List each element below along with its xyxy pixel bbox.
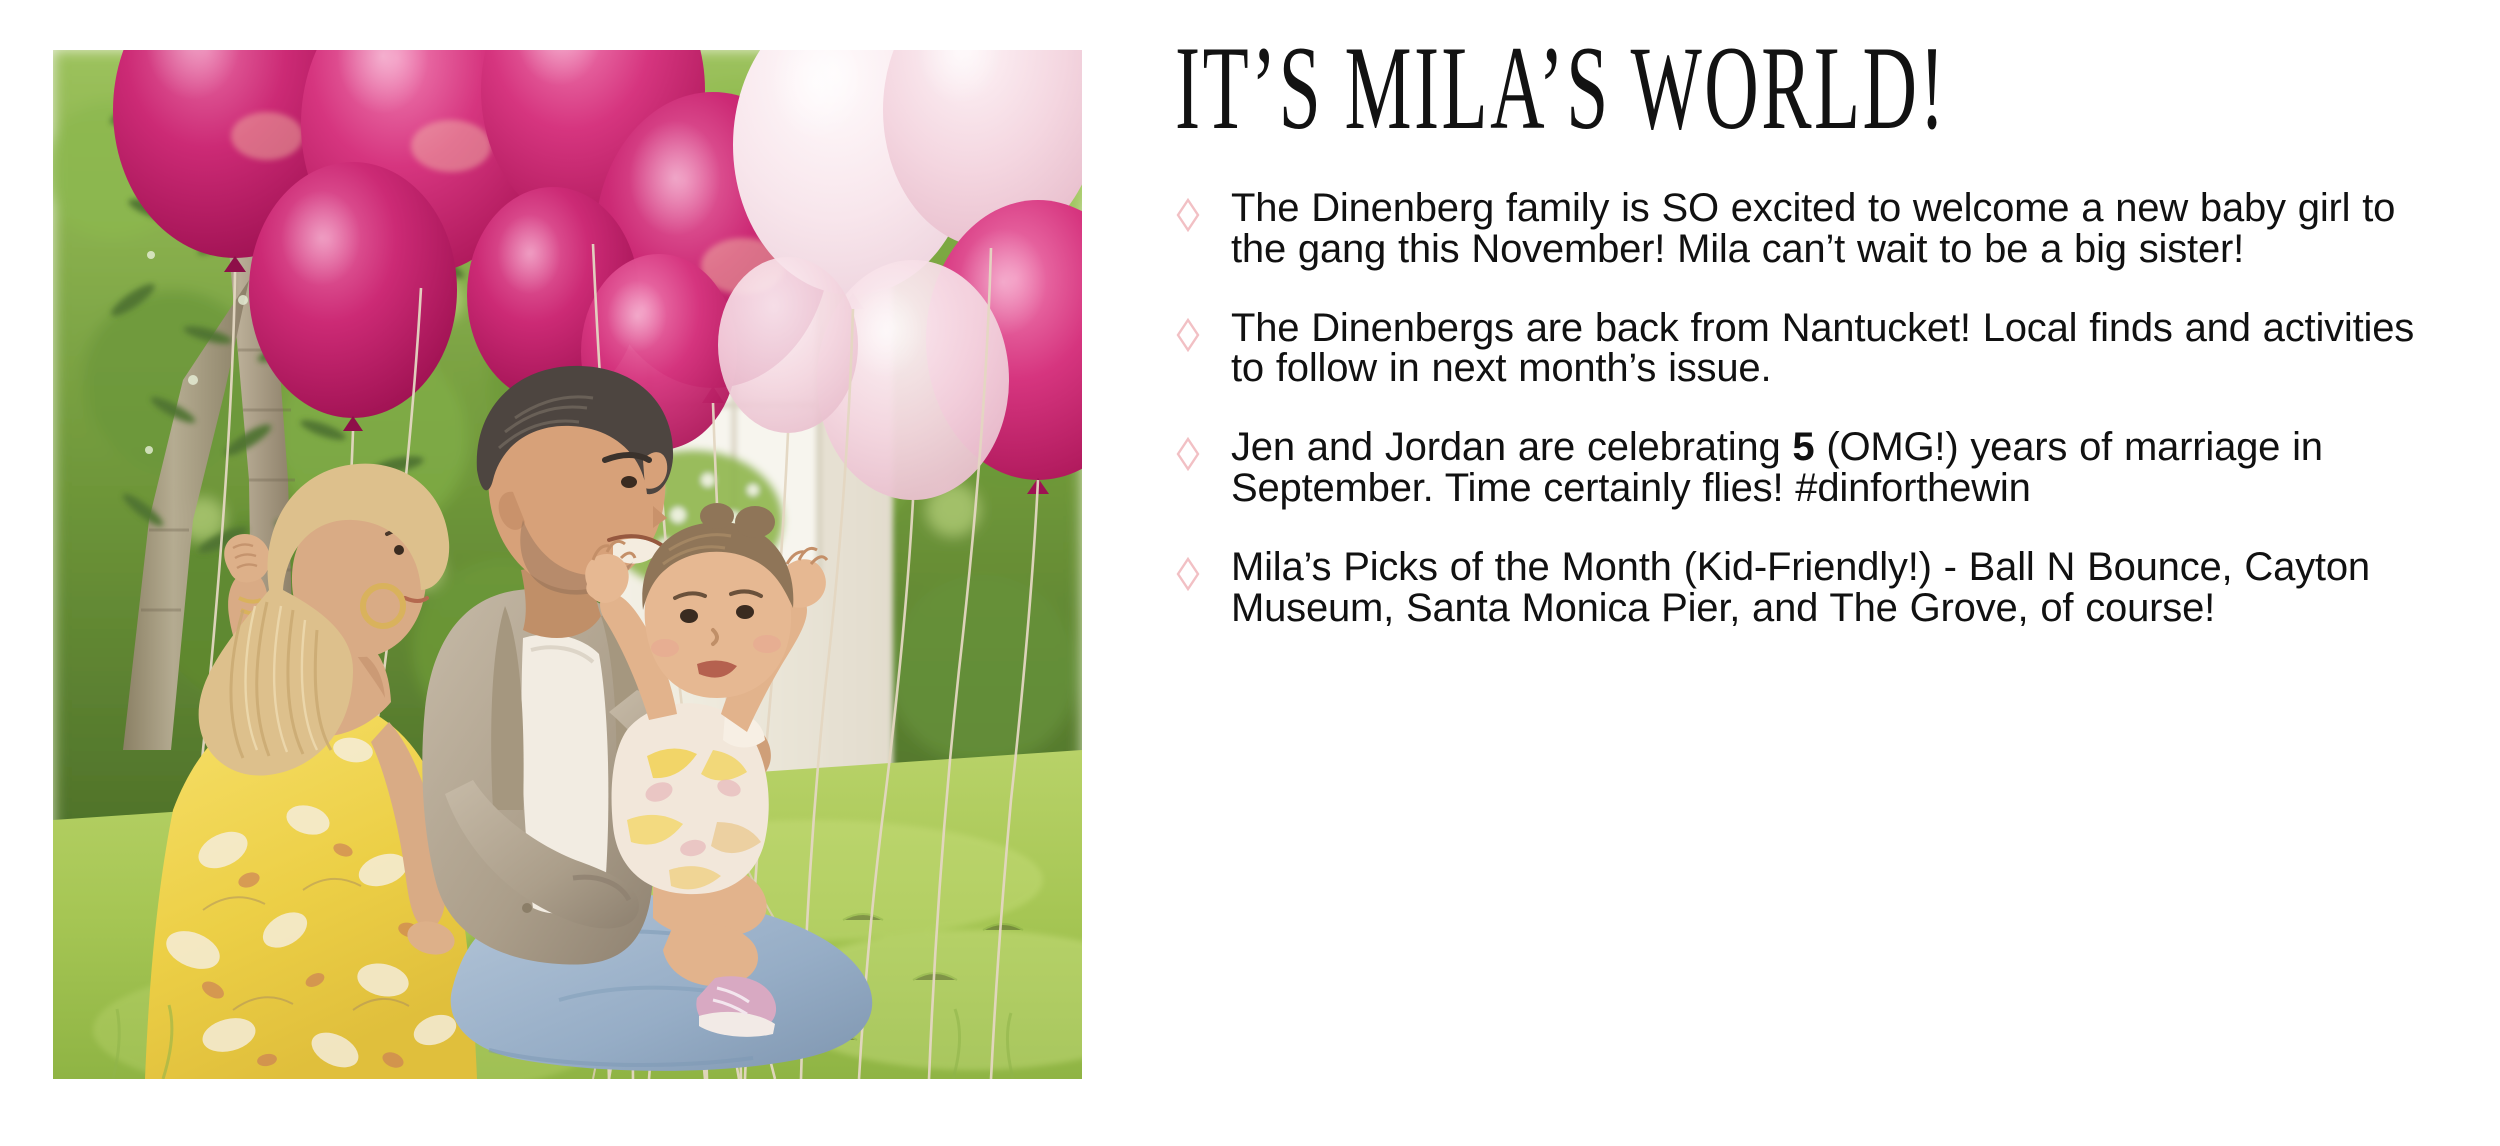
bullet-text: The Dinenberg family is SO excited to we… [1231, 188, 2465, 270]
bullet-text: The Dinenbergs are back from Nantucket! … [1231, 308, 2465, 390]
page-title: IT’S MILA’S WORLD! [1175, 28, 2233, 148]
list-item: The Dinenbergs are back from Nantucket! … [1175, 308, 2465, 390]
family-with-balloons-photo [53, 50, 1082, 1079]
newsletter-content: IT’S MILA’S WORLD! The Dinenberg family … [1175, 28, 2465, 120]
list-item: The Dinenberg family is SO excited to we… [1175, 188, 2465, 270]
bullet-text: Jen and Jordan are celebrating 5 (OMG!) … [1231, 427, 2465, 509]
list-item: Mila’s Picks of the Month (Kid-Friendly!… [1175, 547, 2465, 629]
list-item: Jen and Jordan are celebrating 5 (OMG!) … [1175, 427, 2465, 509]
bullet-text: Mila’s Picks of the Month (Kid-Friendly!… [1231, 547, 2465, 629]
diamond-bullet-icon [1175, 427, 1231, 471]
diamond-bullet-icon [1175, 188, 1231, 232]
newsletter-page: IT’S MILA’S WORLD! The Dinenberg family … [0, 0, 2500, 1146]
photo-illustration [53, 50, 1082, 1079]
balloon [718, 257, 858, 433]
diamond-bullet-icon [1175, 547, 1231, 591]
diamond-bullet-icon [1175, 308, 1231, 352]
news-bullet-list: The Dinenberg family is SO excited to we… [1175, 188, 2465, 628]
